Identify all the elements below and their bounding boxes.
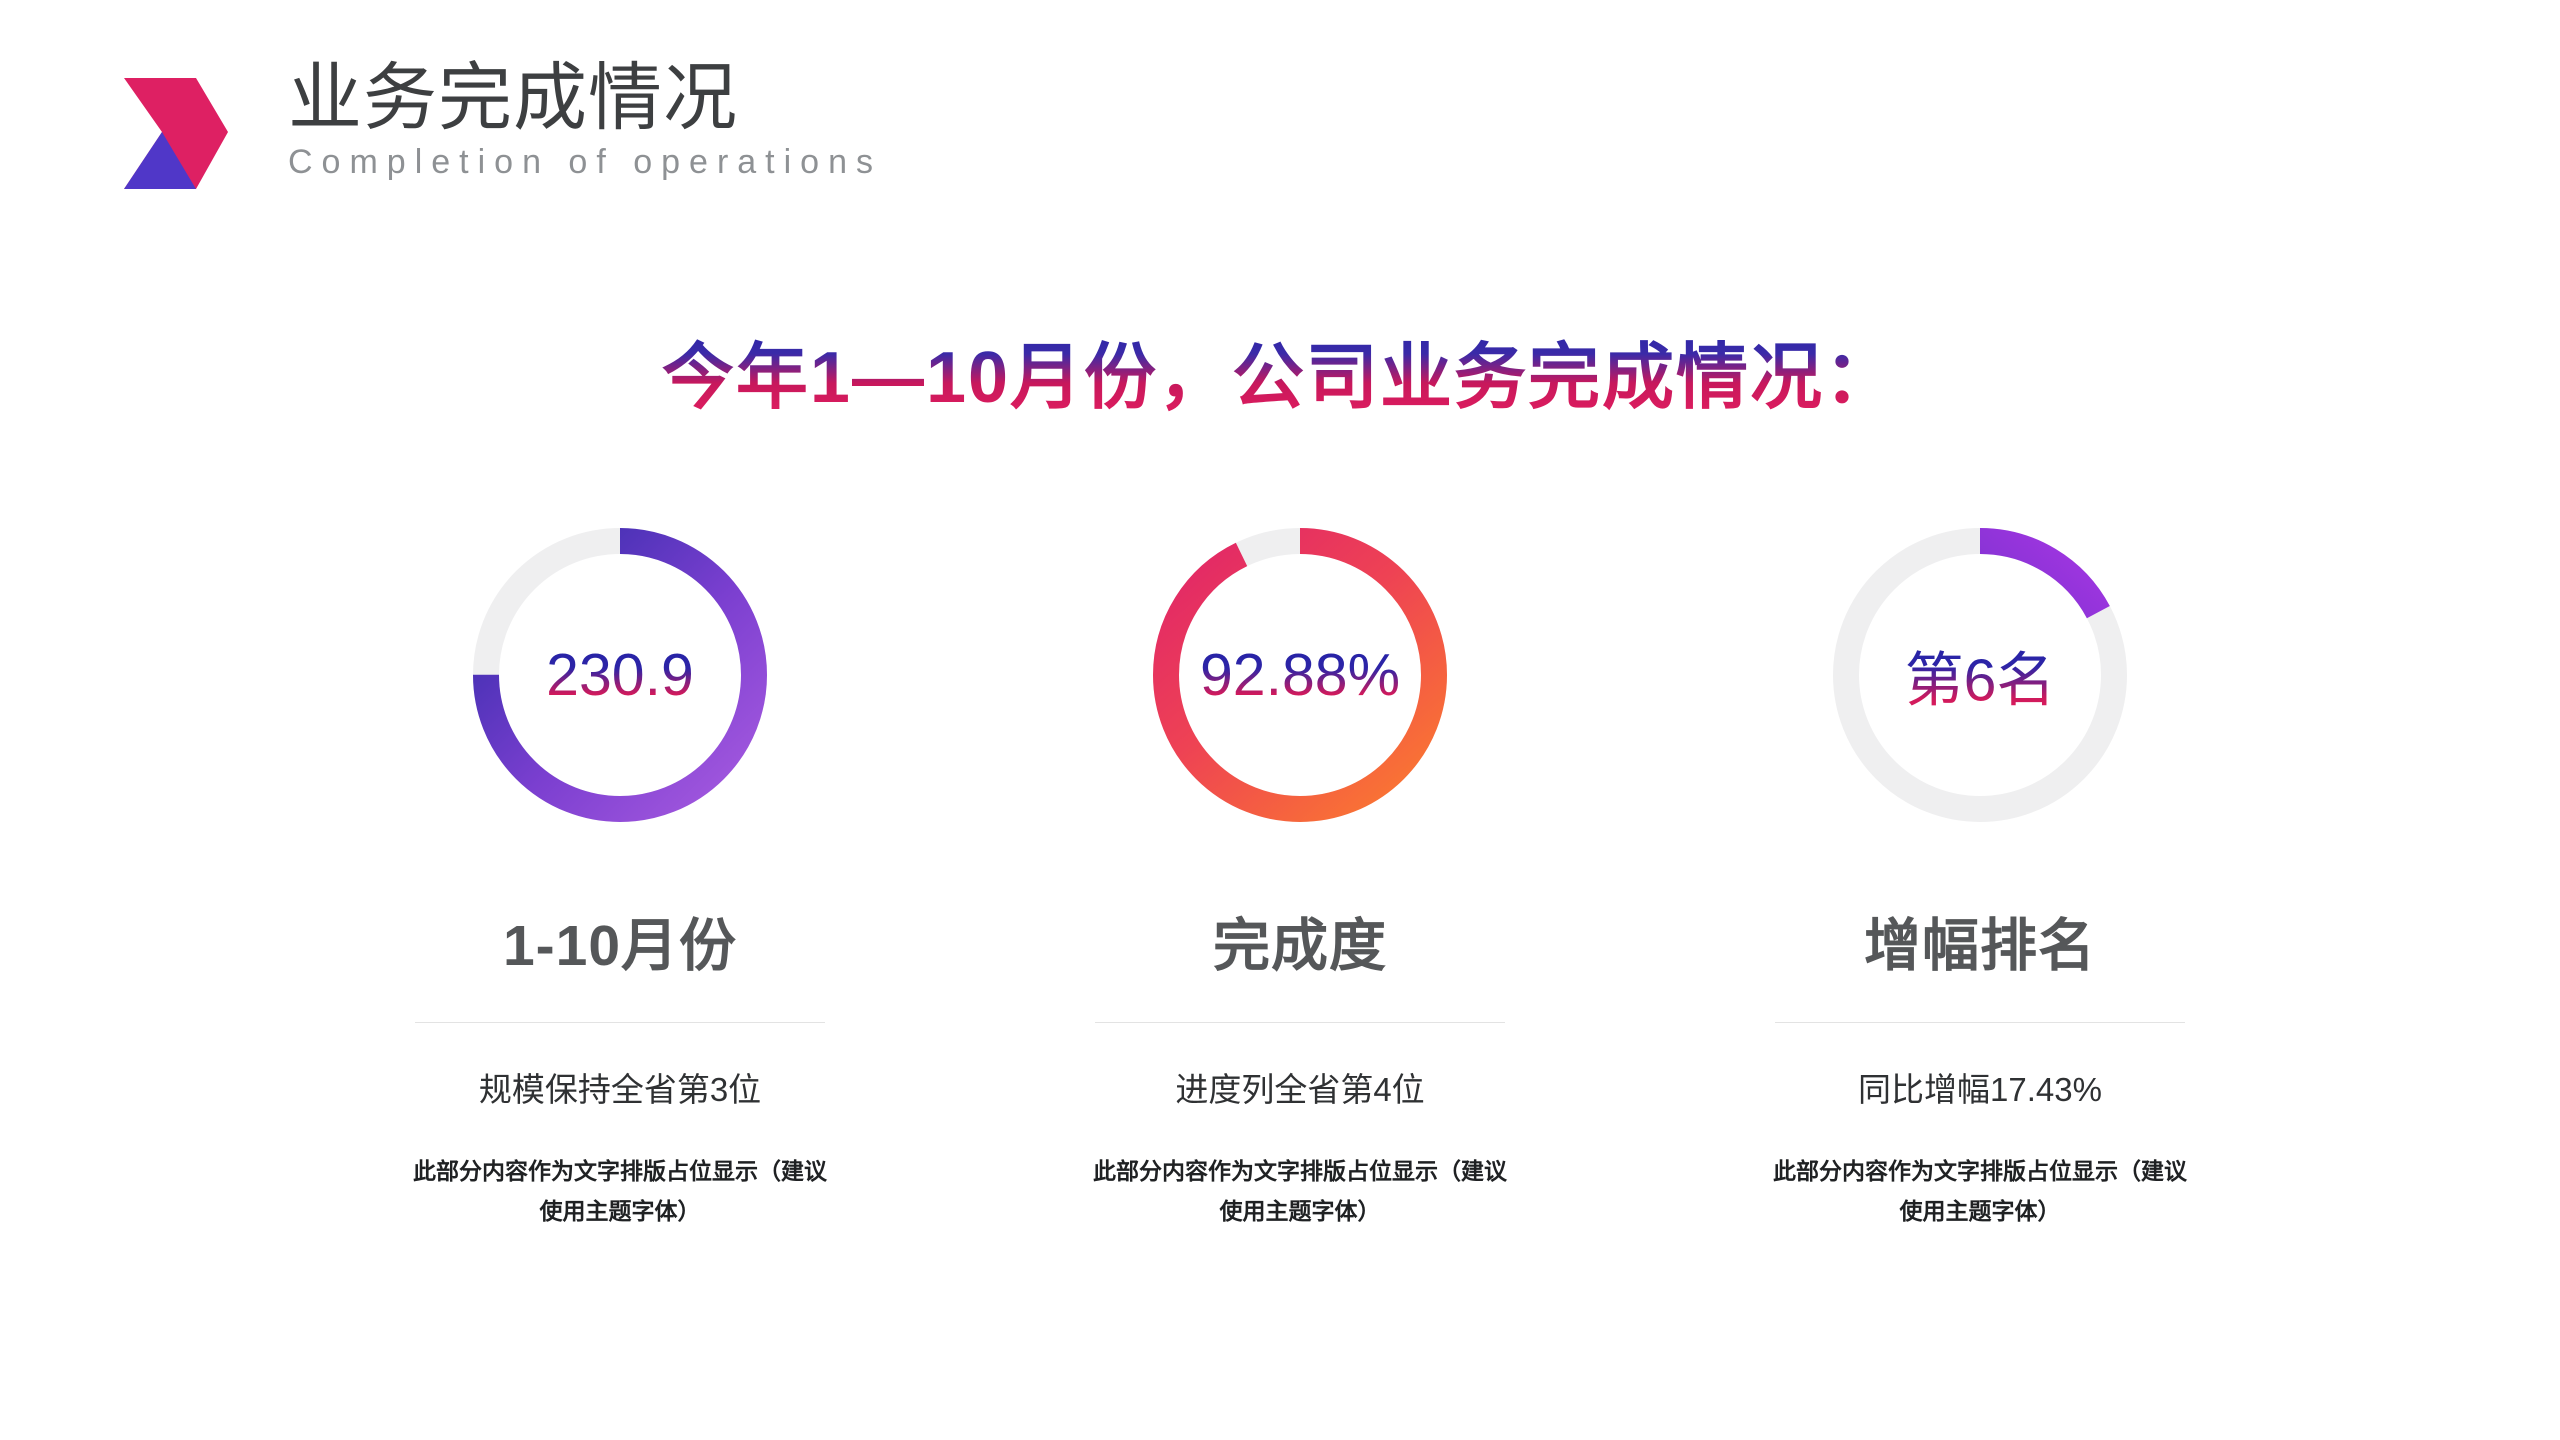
metric-title-3: 增幅排名 [1864, 900, 2096, 982]
donut-value-1: 230.9 [465, 641, 775, 709]
divider-1 [415, 1022, 825, 1023]
donut-chart-3: 第6名 [1825, 520, 2135, 830]
slide-header: 业务完成情况 Completion of operations [118, 62, 882, 207]
divider-2 [1095, 1022, 1505, 1023]
metric-note-1: 此部分内容作为文字排版占位显示（建议使用主题字体） [405, 1151, 835, 1232]
page-subtitle: Completion of operations [288, 143, 882, 182]
header-text-block: 业务完成情况 Completion of operations [288, 62, 882, 182]
metric-columns: 230.9 1-10月份 规模保持全省第3位 此部分内容作为文字排版占位显示（建… [340, 520, 2260, 1232]
metric-subtext-2: 进度列全省第4位 [1175, 1063, 1424, 1111]
metric-column-3: 第6名 增幅排名 同比增幅17.43% 此部分内容作为文字排版占位显示（建议使用… [1700, 520, 2260, 1232]
metric-column-2: 92.88% 完成度 进度列全省第4位 此部分内容作为文字排版占位显示（建议使用… [1020, 520, 1580, 1232]
metric-title-1: 1-10月份 [503, 900, 737, 982]
metric-title-2: 完成度 [1213, 900, 1387, 982]
chevron-arrow-logo-icon [118, 72, 230, 207]
metric-note-2: 此部分内容作为文字排版占位显示（建议使用主题字体） [1085, 1151, 1515, 1232]
metric-note-3: 此部分内容作为文字排版占位显示（建议使用主题字体） [1765, 1151, 2195, 1232]
page-title: 业务完成情况 [288, 62, 882, 135]
main-heading: 今年1—10月份，公司业务完成情况： [0, 318, 2560, 423]
metric-subtext-1: 规模保持全省第3位 [479, 1063, 761, 1111]
donut-chart-2: 92.88% [1145, 520, 1455, 830]
donut-value-3: 第6名 [1825, 633, 2135, 718]
donut-value-2: 92.88% [1145, 641, 1455, 709]
slide-root: 业务完成情况 Completion of operations 今年1—10月份… [0, 0, 2560, 1440]
divider-3 [1775, 1022, 2185, 1023]
metric-subtext-3: 同比增幅17.43% [1858, 1063, 2102, 1111]
donut-chart-1: 230.9 [465, 520, 775, 830]
metric-column-1: 230.9 1-10月份 规模保持全省第3位 此部分内容作为文字排版占位显示（建… [340, 520, 900, 1232]
